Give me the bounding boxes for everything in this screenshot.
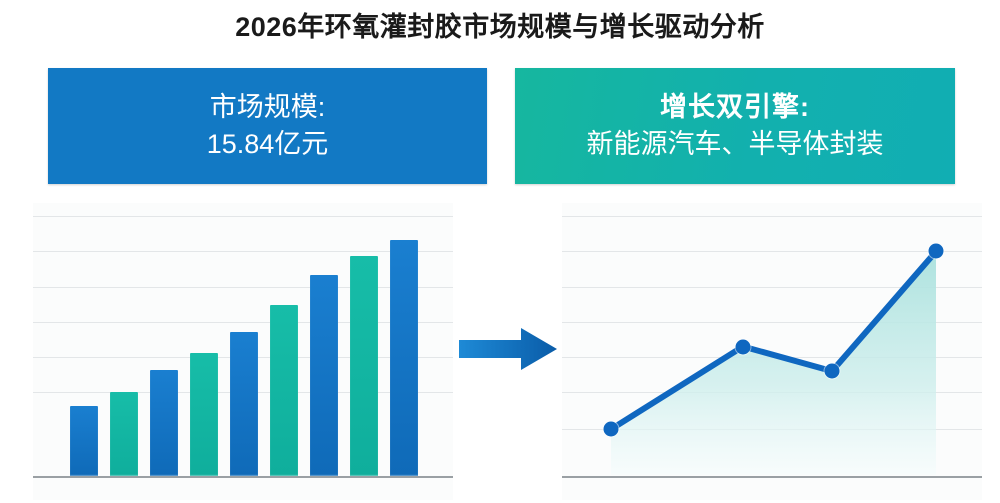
bar xyxy=(390,240,418,476)
arrow-right-icon xyxy=(459,327,557,371)
growth-drivers-label: 增长双引擎: xyxy=(660,89,810,125)
bar xyxy=(230,332,258,476)
bar xyxy=(270,305,298,476)
bar xyxy=(150,370,178,476)
bar-chart-axis xyxy=(33,476,453,478)
data-point-marker xyxy=(929,244,944,259)
market-size-card: 市场规模: 15.84亿元 xyxy=(48,68,487,184)
bar-chart-bars xyxy=(33,203,453,476)
bar xyxy=(350,256,378,476)
bar xyxy=(110,392,138,476)
data-point-marker xyxy=(825,364,840,379)
bar xyxy=(70,406,98,476)
bar xyxy=(190,353,218,476)
bar xyxy=(310,275,338,476)
bar-chart xyxy=(33,203,453,500)
growth-drivers-value: 新能源汽车、半导体封装 xyxy=(587,125,884,163)
market-size-value: 15.84亿元 xyxy=(207,125,329,163)
data-point-marker xyxy=(604,422,619,437)
page-title: 2026年环氧灌封胶市场规模与增长驱动分析 xyxy=(0,8,1000,46)
line-chart xyxy=(562,203,982,500)
data-point-marker xyxy=(736,339,751,354)
line-chart-series xyxy=(562,203,982,500)
growth-drivers-card: 增长双引擎: 新能源汽车、半导体封装 xyxy=(515,68,955,184)
market-size-label: 市场规模: xyxy=(210,89,326,125)
